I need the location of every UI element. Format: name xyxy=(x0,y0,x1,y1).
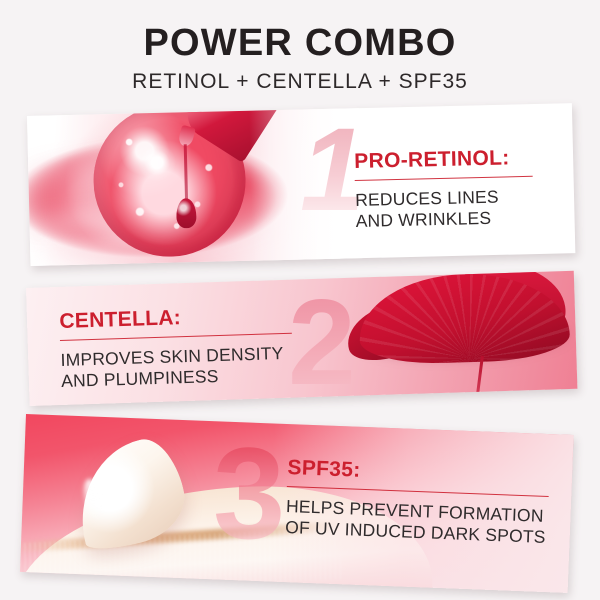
banner-1-heading: PRO-RETINOL: xyxy=(354,146,532,173)
banner-2-divider xyxy=(60,333,292,341)
photo-fade-to-white xyxy=(249,103,363,266)
red-leaf-photo xyxy=(327,271,578,406)
infographic-canvas: POWER COMBO RETINOL + CENTELLA + SPF35 1… xyxy=(0,0,600,600)
banner-3-text-block: SPF35: HELPS PREVENT FORMATION OF UV IND… xyxy=(285,456,550,549)
banner-1-divider xyxy=(355,176,533,181)
banner-3-divider xyxy=(287,486,549,497)
gel-sphere-photo xyxy=(27,103,341,266)
leaf-stem xyxy=(474,356,484,406)
header: POWER COMBO RETINOL + CENTELLA + SPF35 xyxy=(0,24,600,93)
page-subtitle: RETINOL + CENTELLA + SPF35 xyxy=(0,70,600,93)
banner-1-body-line-2: AND WRINKLES xyxy=(355,207,533,233)
banner-2-text-block: CENTELLA: IMPROVES SKIN DENSITY AND PLUM… xyxy=(59,303,293,393)
page-title: POWER COMBO xyxy=(0,24,600,64)
banner-1-text-block: PRO-RETINOL: REDUCES LINES AND WRINKLES xyxy=(354,146,534,233)
